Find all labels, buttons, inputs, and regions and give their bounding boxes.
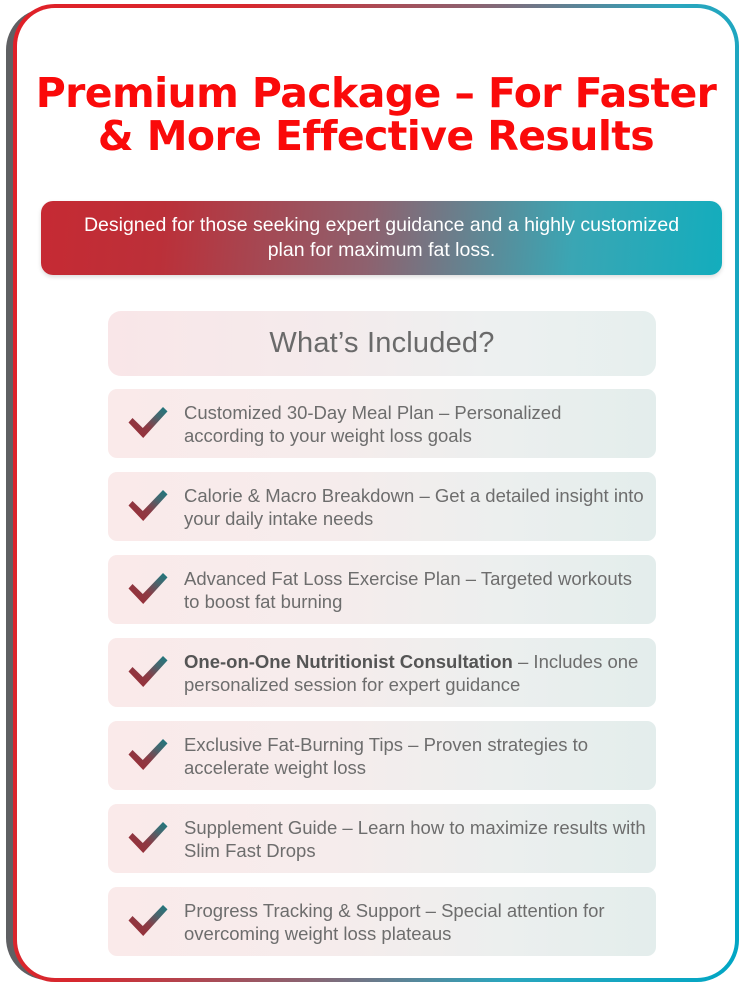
list-item-3: Advanced Fat Loss Exercise Plan – Target… (108, 555, 656, 624)
list-item-label: Customized 30-Day Meal Plan – Personaliz… (184, 401, 656, 447)
list-item-label-rest: Advanced Fat Loss Exercise Plan – Target… (184, 568, 632, 612)
whats-included-label: What’s Included? (269, 327, 494, 360)
list-item-label: Exclusive Fat-Burning Tips – Proven stra… (184, 733, 656, 779)
page-title-line-2: & More Effective Results (29, 115, 723, 158)
subtitle-text: Designed for those seeking expert guidan… (41, 213, 722, 263)
page-title: Premium Package – For Faster & More Effe… (29, 72, 723, 158)
card-surface: Premium Package – For Faster & More Effe… (17, 8, 735, 978)
check-icon (108, 571, 184, 609)
check-icon (108, 903, 184, 941)
list-item-label: One-on-One Nutritionist Consultation – I… (184, 650, 656, 696)
check-icon (108, 405, 184, 443)
list-item-label-rest: Progress Tracking & Support – Special at… (184, 900, 605, 944)
check-icon (108, 820, 184, 858)
feature-list: Customized 30-Day Meal Plan – Personaliz… (108, 389, 656, 970)
page-title-line-1: Premium Package – For Faster (36, 69, 717, 117)
list-item-label: Supplement Guide – Learn how to maximize… (184, 816, 656, 862)
list-item-6: Supplement Guide – Learn how to maximize… (108, 804, 656, 873)
list-item-label-rest: Calorie & Macro Breakdown – Get a detail… (184, 485, 644, 529)
list-item-2: Calorie & Macro Breakdown – Get a detail… (108, 472, 656, 541)
check-icon (108, 654, 184, 692)
list-item-label-rest: Customized 30-Day Meal Plan – Personaliz… (184, 402, 561, 446)
card-gradient-border: Premium Package – For Faster & More Effe… (13, 4, 739, 982)
list-item-label: Progress Tracking & Support – Special at… (184, 899, 656, 945)
list-item-7: Progress Tracking & Support – Special at… (108, 887, 656, 956)
list-item-label-rest: Supplement Guide – Learn how to maximize… (184, 817, 646, 861)
check-icon (108, 488, 184, 526)
list-item-1: Customized 30-Day Meal Plan – Personaliz… (108, 389, 656, 458)
list-item-label: Calorie & Macro Breakdown – Get a detail… (184, 484, 656, 530)
check-icon (108, 737, 184, 775)
list-item-5: Exclusive Fat-Burning Tips – Proven stra… (108, 721, 656, 790)
list-item-label: Advanced Fat Loss Exercise Plan – Target… (184, 567, 656, 613)
whats-included-header: What’s Included? (108, 311, 656, 376)
list-item-label-bold: One-on-One Nutritionist Consultation (184, 651, 513, 672)
subtitle-banner: Designed for those seeking expert guidan… (41, 201, 722, 275)
list-item-4: One-on-One Nutritionist Consultation – I… (108, 638, 656, 707)
list-item-label-rest: Exclusive Fat-Burning Tips – Proven stra… (184, 734, 588, 778)
premium-package-card: Premium Package – For Faster & More Effe… (0, 0, 750, 1001)
